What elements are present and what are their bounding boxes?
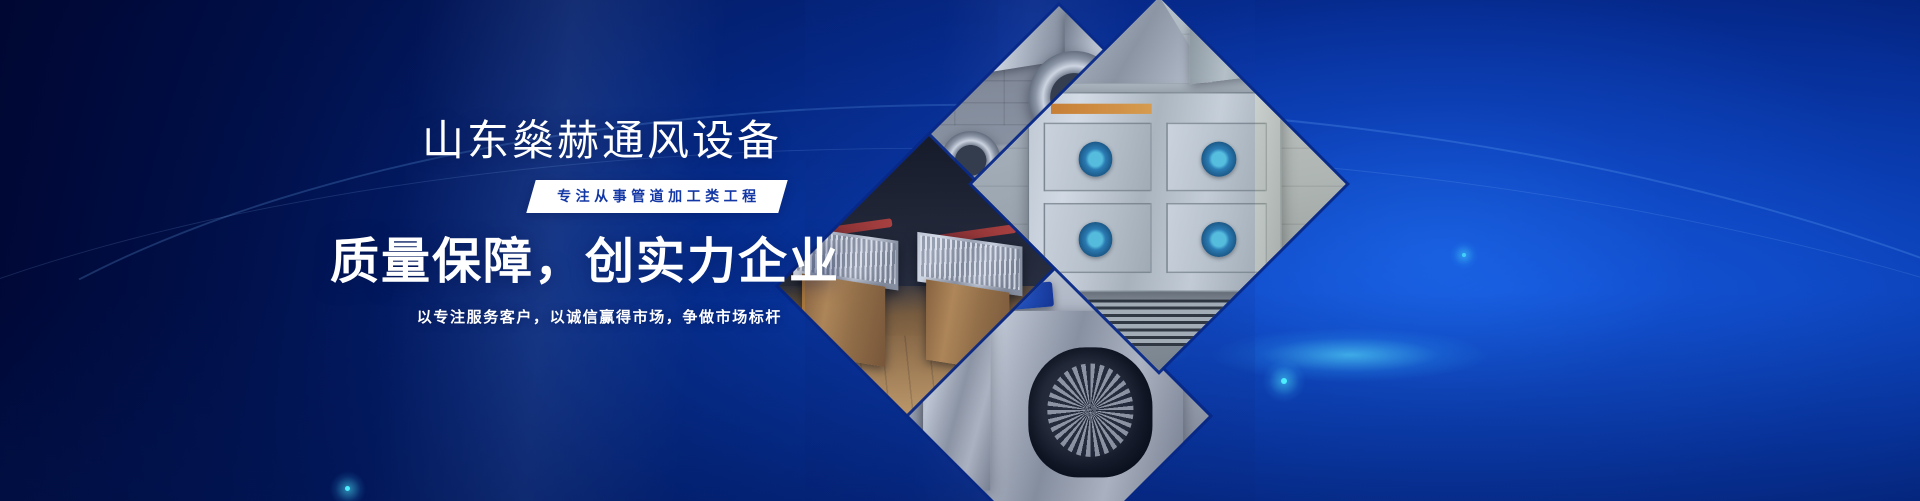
brand-title: 山东燊赫通风设备 — [330, 118, 782, 164]
hero-banner: 山东燊赫通风设备 专注从事管道加工类工程 质量保障，创实力企业 以专注服务客户，… — [0, 0, 1920, 501]
tagline: 以专注服务客户，以诚信赢得市场，争做市场标杆 — [330, 306, 782, 327]
ribbon-row: 专注从事管道加工类工程 — [330, 180, 782, 213]
hero-copy-block: 山东燊赫通风设备 专注从事管道加工类工程 质量保障，创实力企业 以专注服务客户，… — [330, 118, 782, 327]
diamond-photo-collage — [805, 0, 1255, 501]
headline: 质量保障，创实力企业 — [330, 235, 782, 290]
subtitle-ribbon-label: 专注从事管道加工类工程 — [557, 186, 761, 206]
subtitle-ribbon: 专注从事管道加工类工程 — [526, 180, 787, 213]
